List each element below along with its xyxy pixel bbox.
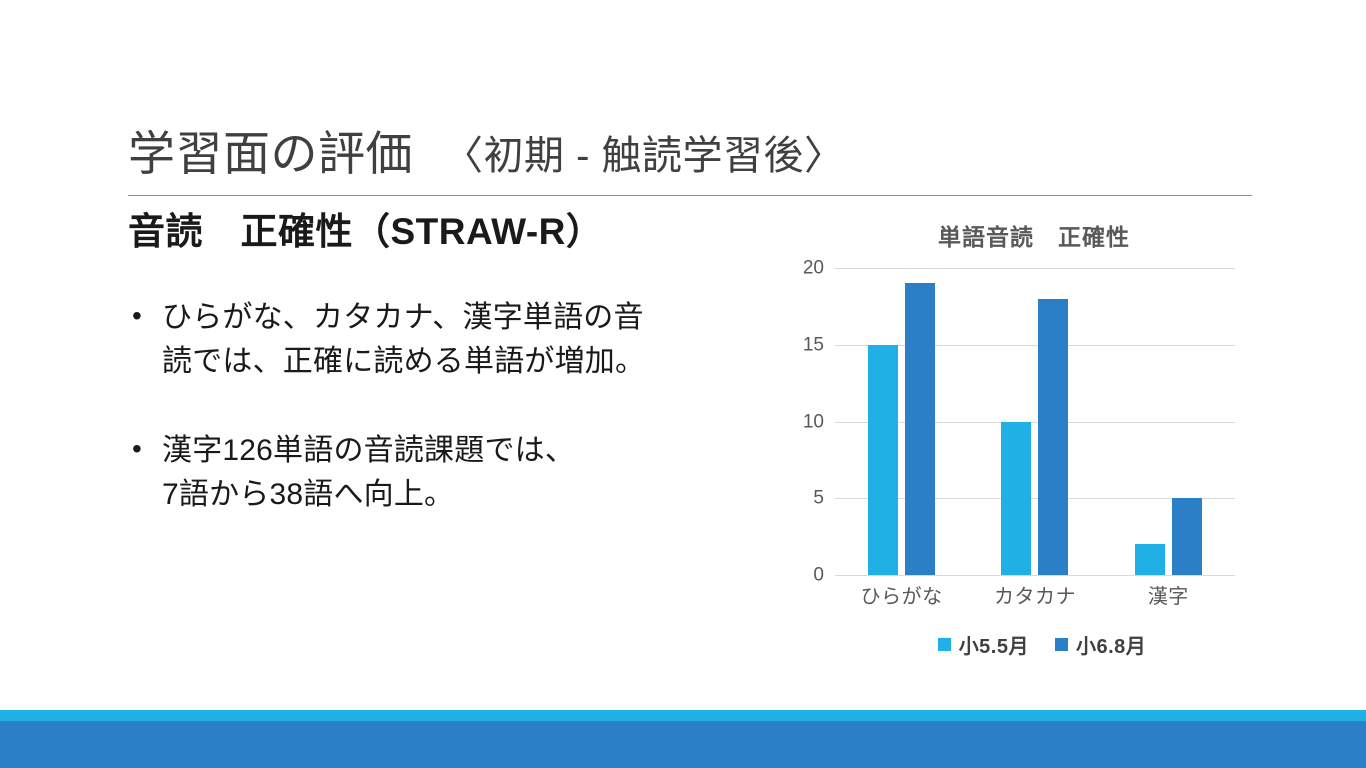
plot-canvas: [835, 268, 1235, 575]
bar: [1135, 544, 1165, 575]
bullet-list: • ひらがな、カタカナ、漢字単語の音 読では、正確に読める単語が増加。 • 漢字…: [128, 296, 768, 516]
list-item: • ひらがな、カタカナ、漢字単語の音 読では、正確に読める単語が増加。: [128, 296, 768, 383]
left-content-column: 音読 正確性（STRAW-R） • ひらがな、カタカナ、漢字単語の音 読では、正…: [128, 210, 768, 562]
bar-group: [1135, 268, 1202, 575]
bar-chart: 単語音読 正確性 20151050 ひらがなカタカナ漢字 小5.5月小6.8月: [778, 218, 1258, 678]
title-subtitle-text: 〈初期 - 触読学習後〉: [443, 135, 845, 177]
bar: [1038, 299, 1068, 575]
legend-swatch-icon: [1055, 638, 1068, 651]
y-axis-tick-label: 0: [813, 566, 824, 585]
y-axis-tick-label: 15: [803, 335, 824, 354]
x-axis-tick-label: ひらがな: [842, 580, 962, 609]
x-axis-tick-label: 漢字: [1108, 580, 1228, 609]
legend-item[interactable]: 小6.8月: [1055, 630, 1146, 659]
legend-swatch-icon: [938, 638, 951, 651]
bullet-dot-icon: •: [128, 429, 162, 516]
bar: [905, 283, 935, 575]
footer-accent-band-light: [0, 710, 1366, 721]
bullet-dot-icon: •: [128, 296, 162, 383]
list-item-text: 漢字126単語の音読課題では、 7語から38語へ向上。: [162, 429, 575, 516]
bar-group: [868, 268, 935, 575]
chart-legend: 小5.5月小6.8月: [802, 630, 1282, 659]
list-item: • 漢字126単語の音読課題では、 7語から38語へ向上。: [128, 429, 768, 516]
section-heading: 音読 正確性（STRAW-R）: [128, 210, 768, 254]
legend-item[interactable]: 小5.5月: [938, 630, 1029, 659]
y-axis: 20151050: [778, 268, 830, 575]
axis-baseline: [835, 575, 1235, 576]
footer-accent-band-dark: [0, 721, 1366, 768]
bar-series-container: [835, 268, 1235, 575]
legend-label: 小5.5月: [959, 630, 1029, 659]
bar-group: [1001, 268, 1068, 575]
y-axis-tick-label: 10: [803, 412, 824, 431]
title-main-text: 学習面の評価: [128, 129, 413, 178]
x-axis-tick-label: カタカナ: [975, 580, 1095, 609]
bar: [868, 345, 898, 575]
chart-title: 単語音読 正確性: [810, 218, 1258, 252]
page-title: 学習面の評価 〈初期 - 触読学習後〉: [128, 112, 1252, 196]
legend-label: 小6.8月: [1076, 630, 1146, 659]
list-item-text: ひらがな、カタカナ、漢字単語の音 読では、正確に読める単語が増加。: [162, 296, 645, 383]
bar: [1172, 498, 1202, 575]
y-axis-tick-label: 5: [813, 489, 824, 508]
y-axis-tick-label: 20: [803, 259, 824, 278]
x-axis: ひらがなカタカナ漢字: [835, 580, 1235, 609]
slide-canvas: 学習面の評価 〈初期 - 触読学習後〉 音読 正確性（STRAW-R） • ひら…: [0, 0, 1366, 768]
bar: [1001, 422, 1031, 576]
title-divider: [128, 195, 1252, 196]
chart-plot-area: 20151050 ひらがなカタカナ漢字: [778, 268, 1258, 613]
